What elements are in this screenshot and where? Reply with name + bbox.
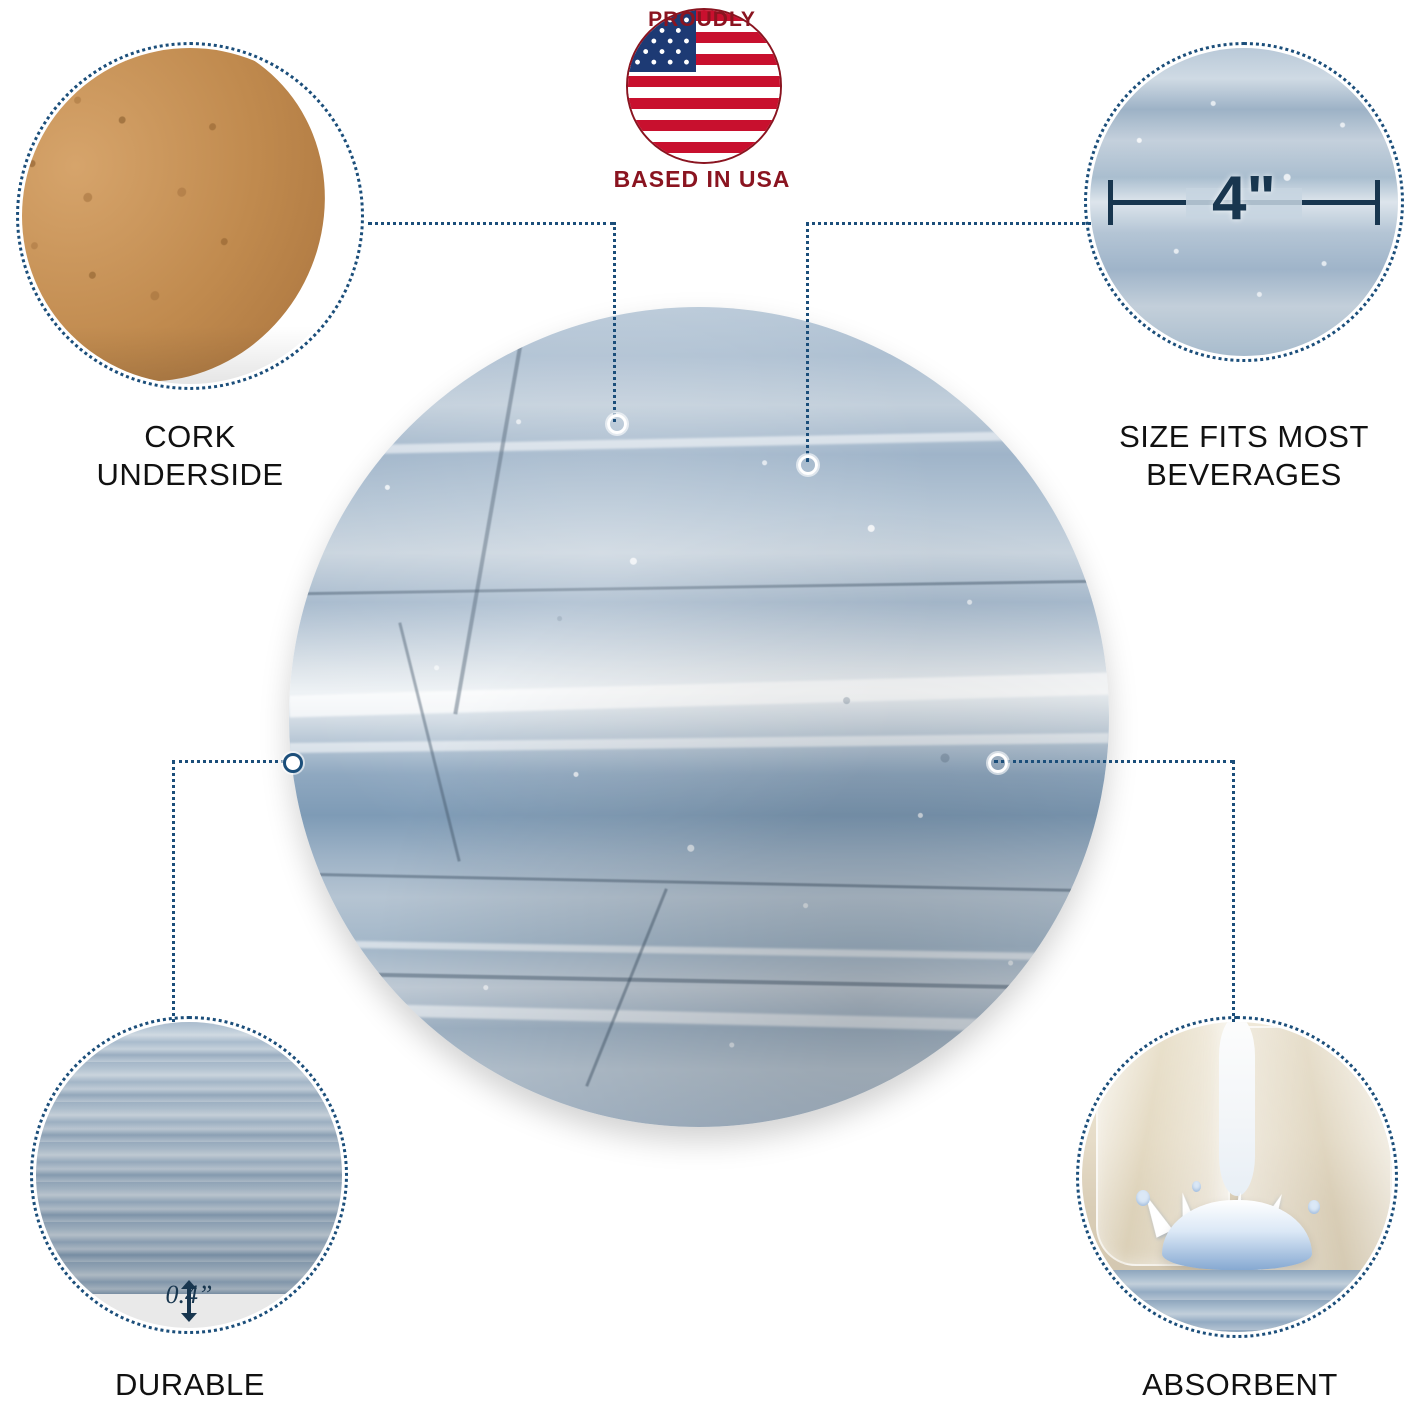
connector-durable-vertical <box>172 760 175 1060</box>
callout-label-size: SIZE FITS MOST BEVERAGES <box>1060 418 1412 494</box>
stone-shading <box>289 307 1109 1127</box>
connector-cork-horizontal <box>368 222 614 225</box>
callout-label-durable: DURABLE <box>10 1366 370 1404</box>
callout-label-size-line1: SIZE FITS MOST <box>1060 418 1412 456</box>
callout-ring-absorbent <box>1076 1016 1398 1338</box>
connector-cork-vertical <box>613 222 616 422</box>
callout-label-durable-line1: DURABLE <box>10 1366 370 1404</box>
connector-node-absorbent <box>988 753 1008 773</box>
callout-ring-durable <box>30 1016 348 1334</box>
connector-size-horizontal <box>806 222 1091 225</box>
callout-label-absorbent-line1: ABSORBENT <box>1060 1366 1412 1404</box>
connector-size-vertical <box>806 222 809 462</box>
usa-badge: PROUDLY BASED IN USA <box>610 0 794 208</box>
connector-absorbent-horizontal <box>994 760 1234 763</box>
connector-absorbent-vertical <box>1232 760 1235 1060</box>
callout-ring-cork <box>16 42 364 390</box>
callout-label-cork: CORK UNDERSIDE <box>10 418 370 494</box>
badge-text-top: PROUDLY <box>610 8 794 32</box>
badge-text-bottom: BASED IN USA <box>610 167 794 192</box>
connector-node-cork <box>607 414 627 434</box>
callout-label-absorbent: ABSORBENT <box>1060 1366 1412 1404</box>
connector-durable-horizontal <box>172 760 296 763</box>
callout-ring-size <box>1084 42 1404 362</box>
callout-label-cork-line2: UNDERSIDE <box>10 456 370 494</box>
callout-label-size-line2: BEVERAGES <box>1060 456 1412 494</box>
connector-node-durable <box>283 753 303 773</box>
product-image-coaster <box>289 307 1109 1127</box>
connector-node-size <box>798 455 818 475</box>
callout-label-cork-line1: CORK <box>10 418 370 456</box>
